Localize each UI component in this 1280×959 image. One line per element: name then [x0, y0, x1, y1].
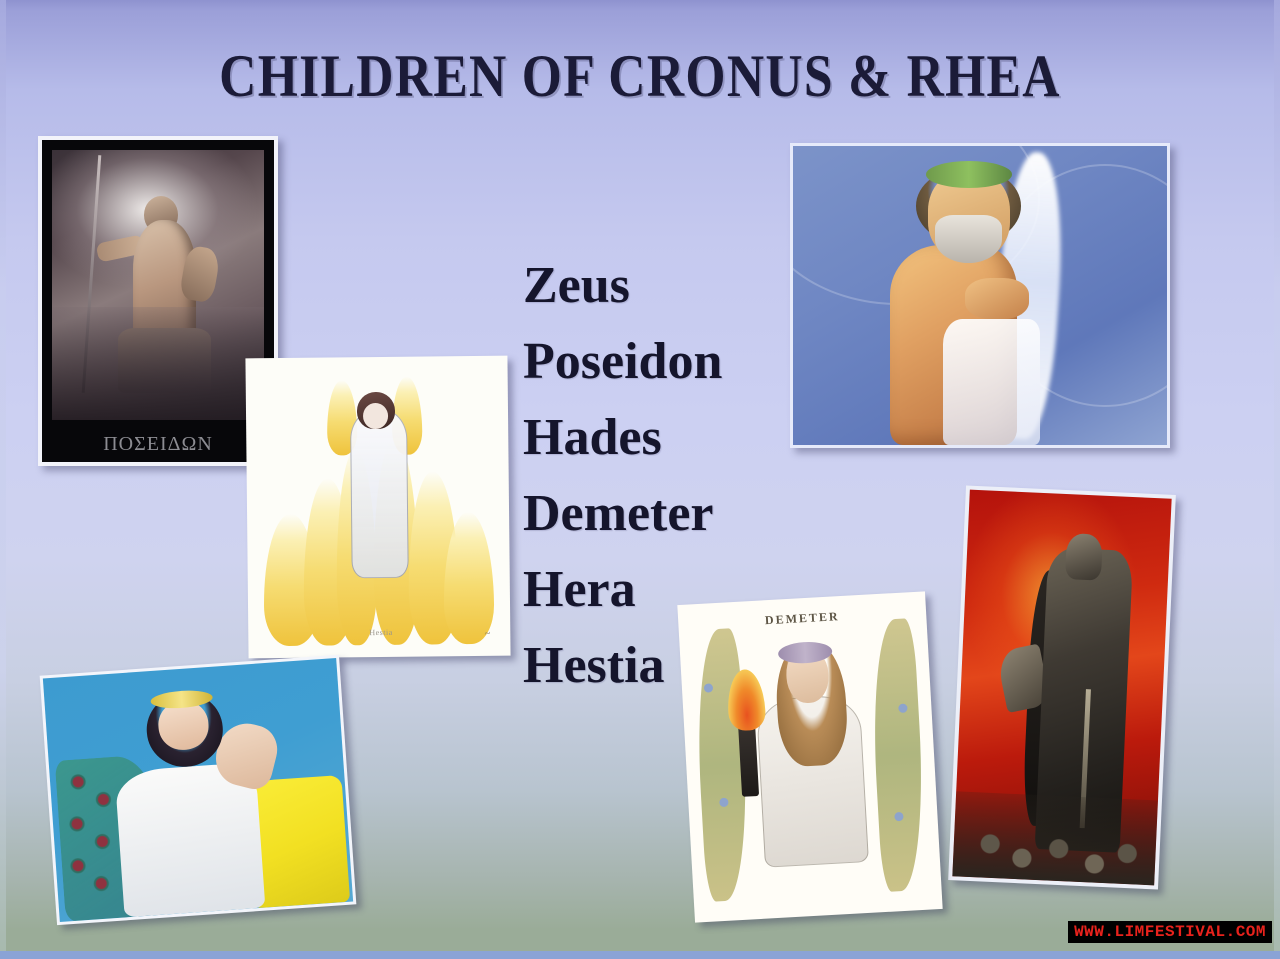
hades-skull-pile — [952, 791, 1158, 885]
watermark-badge: WWW.LIMFESTIVAL.COM — [1068, 921, 1272, 943]
hestia-artwork: Hestia ~ — [251, 362, 504, 653]
demeter-artwork: DEMETER — [686, 600, 934, 914]
list-item: Hades — [523, 400, 722, 476]
poseidon-waves — [52, 307, 264, 420]
poseidon-artwork — [52, 150, 264, 420]
deity-name-list: Zeus Poseidon Hades Demeter Hera Hestia — [523, 248, 722, 704]
hestia-small-label: Hestia — [369, 628, 393, 637]
hestia-robed-body — [349, 409, 408, 579]
picture-card-poseidon: ΠΟΣΕΙΔΩΝ — [38, 136, 278, 466]
list-item: Hestia — [523, 628, 722, 704]
picture-card-hestia: Hestia ~ — [245, 356, 510, 659]
slide-bottom-strip — [0, 951, 1280, 959]
zeus-toga — [943, 319, 1040, 445]
slide-left-edge — [0, 0, 6, 959]
watermark-url: WWW.LIMFESTIVAL.COM — [1074, 924, 1266, 940]
zeus-artwork — [793, 146, 1167, 445]
list-item: Hera — [523, 552, 722, 628]
slide-right-edge — [1274, 0, 1280, 959]
zeus-beard — [935, 215, 1002, 263]
page-title: CHILDREN OF CRONUS & RHEA — [90, 42, 1191, 111]
list-item: Zeus — [523, 248, 722, 324]
list-item: Poseidon — [523, 324, 722, 400]
hera-artwork — [43, 658, 353, 922]
hades-horned-helmet — [1065, 533, 1103, 581]
zeus-hand — [965, 278, 1029, 320]
list-item: Demeter — [523, 476, 722, 552]
picture-card-hades — [948, 485, 1176, 889]
picture-card-hera — [40, 655, 357, 925]
demeter-wheat-wreath-right — [867, 618, 928, 892]
picture-card-zeus — [790, 143, 1170, 448]
hestia-artist-signature: ~ — [484, 627, 492, 640]
slide-canvas: CHILDREN OF CRONUS & RHEA ΠΟΣΕΙΔΩΝ — [0, 0, 1280, 959]
hades-artwork — [952, 490, 1171, 886]
demeter-cornflower — [898, 703, 907, 712]
poseidon-caption: ΠΟΣΕΙΔΩΝ — [42, 433, 274, 456]
poseidon-frame: ΠΟΣΕΙΔΩΝ — [42, 140, 274, 462]
zeus-laurel-wreath — [926, 161, 1012, 188]
